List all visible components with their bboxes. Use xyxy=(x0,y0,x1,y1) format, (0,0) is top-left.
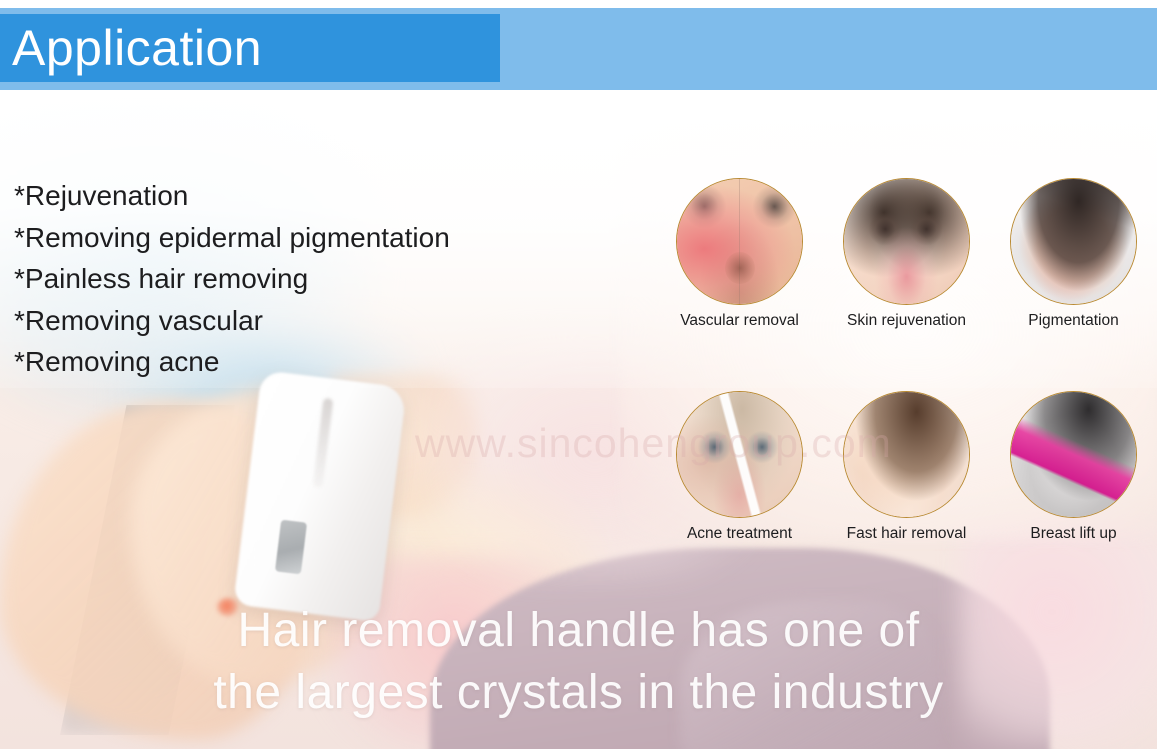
application-label: Acne treatment xyxy=(687,525,792,543)
application-grid-row: Acne treatment Fast hair removal Breast … xyxy=(672,391,1142,543)
feature-list-item: *Painless hair removing xyxy=(14,258,654,300)
application-grid: Vascular removal Skin rejuvenation Pigme… xyxy=(672,178,1142,543)
application-circle xyxy=(676,391,803,518)
application-circle xyxy=(843,391,970,518)
feature-list: *Rejuvenation *Removing epidermal pigmen… xyxy=(14,175,654,383)
vascular-removal-photo xyxy=(677,179,802,304)
application-label: Breast lift up xyxy=(1030,525,1116,543)
application-label: Vascular removal xyxy=(680,312,799,330)
application-cell-pigmentation: Pigmentation xyxy=(1006,178,1141,330)
application-cell-skin-rejuvenation: Skin rejuvenation xyxy=(839,178,974,330)
background-handpiece-indicator-light xyxy=(217,598,239,616)
fast-hair-removal-photo xyxy=(844,392,969,517)
application-cell-acne-treatment: Acne treatment xyxy=(672,391,807,543)
background-handpiece-device xyxy=(233,370,407,622)
background-pillow xyxy=(960,520,1157,749)
pigmentation-photo xyxy=(1011,179,1136,304)
application-label: Fast hair removal xyxy=(847,525,967,543)
application-circle xyxy=(1010,178,1137,305)
application-label: Skin rejuvenation xyxy=(847,312,966,330)
feature-list-item: *Removing epidermal pigmentation xyxy=(14,217,654,259)
application-cell-breast-lift-up: Breast lift up xyxy=(1006,391,1141,543)
application-label: Pigmentation xyxy=(1028,312,1118,330)
application-circle xyxy=(676,178,803,305)
skin-rejuvenation-photo xyxy=(844,179,969,304)
application-cell-fast-hair-removal: Fast hair removal xyxy=(839,391,974,543)
breast-lift-up-photo xyxy=(1011,392,1136,517)
page-title: Application xyxy=(12,14,492,82)
application-cell-vascular-removal: Vascular removal xyxy=(672,178,807,330)
application-grid-row: Vascular removal Skin rejuvenation Pigme… xyxy=(672,178,1142,330)
acne-treatment-photo xyxy=(677,392,802,517)
application-circle xyxy=(1010,391,1137,518)
feature-list-item: *Removing acne xyxy=(14,341,654,383)
application-slide: Application *Rejuvenation *Removing epid… xyxy=(0,0,1157,749)
application-circle xyxy=(843,178,970,305)
feature-list-item: *Rejuvenation xyxy=(14,175,654,217)
feature-list-item: *Removing vascular xyxy=(14,300,654,342)
